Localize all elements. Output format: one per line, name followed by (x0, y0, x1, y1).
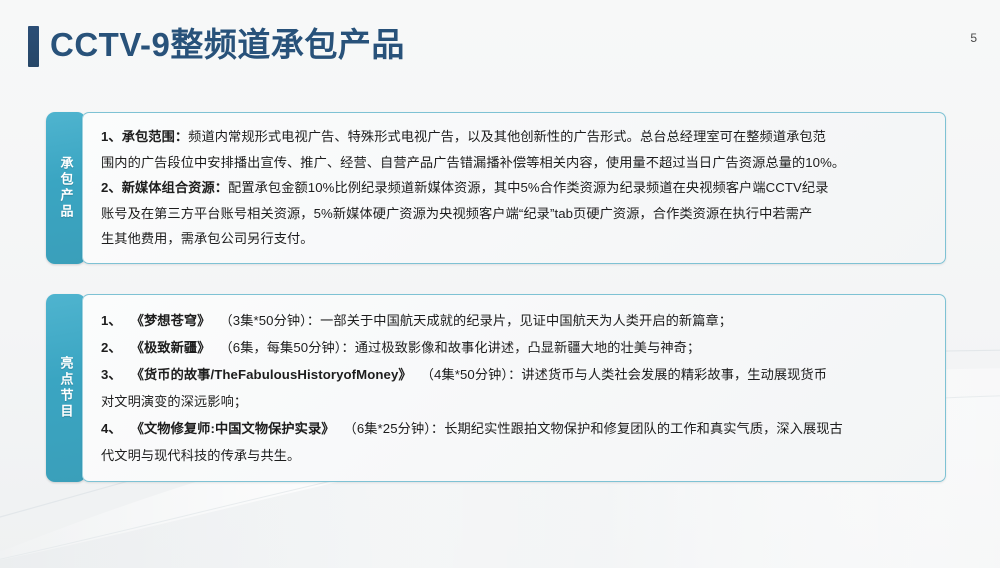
slide-root: CCTV-9整频道承包产品 5 承包产品 1、承包范围：频道内常规形式电视广告、… (0, 0, 1000, 568)
panel-highlight-programs: 亮点节目 1、《梦想苍穹》（3集*50分钟）：一部关于中国航天成就的纪录片，见证… (46, 294, 946, 482)
item-number: 3、 (101, 367, 122, 382)
item-text: 生其他费用，需承包公司另行支付。 (101, 231, 314, 246)
program-spec: （6集，每集50分钟）： (219, 340, 354, 355)
program-desc-cont: 代文明与现代科技的传承与共生。 (101, 448, 300, 463)
tab-label-contract-products: 承包产品 (46, 112, 86, 264)
list-item: 3、《货币的故事/TheFabulousHistoryofMoney》（4集*5… (101, 361, 931, 388)
program-title: 《文物修复师:中国文物保护实录》 (131, 421, 335, 436)
panel-contract-products: 承包产品 1、承包范围：频道内常规形式电视广告、特殊形式电视广告，以及其他创新性… (46, 112, 946, 264)
list-item: 1、《梦想苍穹》（3集*50分钟）：一部关于中国航天成就的纪录片，见证中国航天为… (101, 307, 931, 334)
panel-body-contract-products: 1、承包范围：频道内常规形式电视广告、特殊形式电视广告，以及其他创新性的广告形式… (82, 112, 946, 264)
list-item: 2、《极致新疆》（6集，每集50分钟）：通过极致影像和故事化讲述，凸显新疆大地的… (101, 334, 931, 361)
item-number: 1、 (101, 129, 122, 144)
list-item-continuation: 对文明演变的深远影响； (101, 388, 931, 415)
tab-contract-products[interactable]: 承包产品 (46, 112, 86, 264)
program-desc-cont: 对文明演变的深远影响； (101, 394, 247, 409)
list-item-continuation: 围内的广告段位中安排播出宣传、推广、经营、自营产品广告错漏播补偿等相关内容，使用… (101, 150, 931, 176)
list-item-continuation: 代文明与现代科技的传承与共生。 (101, 442, 931, 469)
program-spec: （4集*50分钟）： (421, 367, 522, 382)
slide-header: CCTV-9整频道承包产品 5 (0, 0, 1000, 92)
item-heading: 承包范围： (122, 129, 188, 144)
tab-highlight-programs[interactable]: 亮点节目 (46, 294, 86, 482)
list-item: 2、新媒体组合资源：配置承包金额10%比例纪录频道新媒体资源，其中5%合作类资源… (101, 175, 931, 201)
list-item-continuation: 账号及在第三方平台账号相关资源，5%新媒体硬广资源为央视频客户端“纪录”tab页… (101, 201, 931, 227)
program-title: 《梦想苍穹》 (131, 313, 211, 328)
program-desc: 一部关于中国航天成就的纪录片，见证中国航天为人类开启的新篇章； (320, 313, 732, 328)
item-number: 2、 (101, 180, 122, 195)
list-item: 1、承包范围：频道内常规形式电视广告、特殊形式电视广告，以及其他创新性的广告形式… (101, 124, 931, 150)
program-desc: 长期纪实性跟拍文物保护和修复团队的工作和真实气质，深入展现古 (444, 421, 843, 436)
item-text: 配置承包金额10%比例纪录频道新媒体资源，其中5%合作类资源为纪录频道在央视频客… (228, 180, 828, 195)
panel-body-highlight-programs: 1、《梦想苍穹》（3集*50分钟）：一部关于中国航天成就的纪录片，见证中国航天为… (82, 294, 946, 482)
item-text: 账号及在第三方平台账号相关资源，5%新媒体硬广资源为央视频客户端“纪录”tab页… (101, 206, 812, 221)
item-number: 2、 (101, 340, 122, 355)
program-desc: 通过极致影像和故事化讲述，凸显新疆大地的壮美与神奇； (355, 340, 700, 355)
program-title: 《货币的故事/TheFabulousHistoryofMoney》 (131, 367, 412, 382)
tab-label-highlight-programs: 亮点节目 (46, 294, 86, 482)
list-item: 4、《文物修复师:中国文物保护实录》（6集*25分钟）：长期纪实性跟拍文物保护和… (101, 415, 931, 442)
program-spec: （6集*25分钟）： (344, 421, 445, 436)
item-text: 频道内常规形式电视广告、特殊形式电视广告，以及其他创新性的广告形式。总台总经理室… (188, 129, 826, 144)
program-title: 《极致新疆》 (131, 340, 211, 355)
list-item-continuation: 生其他费用，需承包公司另行支付。 (101, 226, 931, 252)
program-spec: （3集*50分钟）： (219, 313, 320, 328)
page-title: CCTV-9整频道承包产品 (50, 21, 405, 69)
page-number: 5 (970, 31, 977, 45)
item-heading: 新媒体组合资源： (122, 180, 228, 195)
program-desc: 讲述货币与人类社会发展的精彩故事，生动展现货币 (521, 367, 827, 382)
item-number: 4、 (101, 421, 122, 436)
item-number: 1、 (101, 313, 122, 328)
item-text: 围内的广告段位中安排播出宣传、推广、经营、自营产品广告错漏播补偿等相关内容，使用… (101, 155, 845, 170)
title-accent-bar (28, 26, 39, 67)
